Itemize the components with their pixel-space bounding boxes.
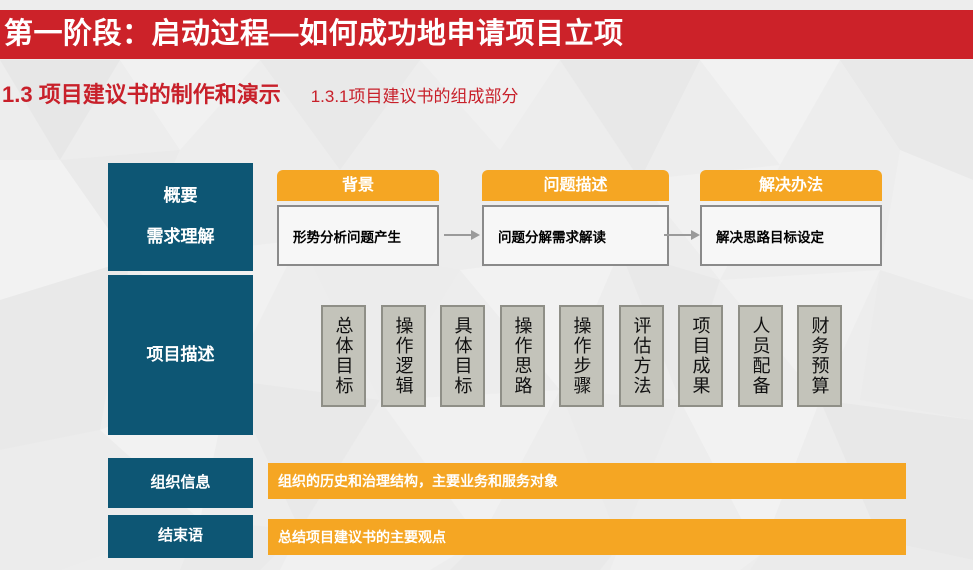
section-label-overview: 概要 需求理解 bbox=[108, 163, 253, 271]
section-label-overview-line-1: 概要 bbox=[164, 187, 198, 206]
section-label-project-description-text: 项目描述 bbox=[147, 346, 215, 365]
flow-card-background-body: 形势分析问题产生 bbox=[277, 205, 439, 266]
flow-card-problem-statement: 问题描述 问题分解需求解读 bbox=[482, 170, 669, 266]
section-label-closing-remarks-text: 结束语 bbox=[158, 528, 203, 545]
section-label-overview-line-2: 需求理解 bbox=[147, 228, 215, 247]
detail-chip-operation-idea: 操作思路 bbox=[500, 305, 545, 407]
detail-chip-project-results: 项目成果 bbox=[678, 305, 723, 407]
content-bar-organization-info: 组织的历史和治理结构，主要业务和服务对象 bbox=[268, 463, 906, 499]
slide-canvas: 第一阶段：启动过程—如何成功地申请项目立项 1.3 项目建议书的制作和演示 1.… bbox=[0, 0, 973, 570]
section-heading: 1.3 项目建议书的制作和演示 bbox=[2, 84, 281, 106]
section-label-organization-info-text: 组织信息 bbox=[150, 475, 210, 492]
arrow-right-icon bbox=[444, 226, 480, 244]
detail-chip-specific-goal: 具体目标 bbox=[440, 305, 485, 407]
detail-chip-operation-logic: 操作逻辑 bbox=[381, 305, 426, 407]
flow-card-solution: 解决办法 解决思路目标设定 bbox=[700, 170, 882, 266]
title-banner: 第一阶段：启动过程—如何成功地申请项目立项 bbox=[0, 10, 973, 59]
flow-card-problem-statement-body: 问题分解需求解读 bbox=[482, 205, 669, 266]
subheading-row: 1.3 项目建议书的制作和演示 1.3.1项目建议书的组成部分 bbox=[2, 84, 519, 106]
detail-chip-financial-budget: 财务预算 bbox=[797, 305, 842, 407]
flow-card-background-header: 背景 bbox=[277, 170, 439, 201]
detail-chip-evaluation-method: 评估方法 bbox=[619, 305, 664, 407]
flow-card-solution-body: 解决思路目标设定 bbox=[700, 205, 882, 266]
section-label-organization-info: 组织信息 bbox=[108, 458, 253, 508]
subsection-heading: 1.3.1项目建议书的组成部分 bbox=[311, 88, 519, 105]
detail-chip-operation-steps: 操作步骤 bbox=[559, 305, 604, 407]
detail-chip-staffing: 人员配备 bbox=[738, 305, 783, 407]
detail-chip-overall-goal: 总体目标 bbox=[321, 305, 366, 407]
section-label-closing-remarks: 结束语 bbox=[108, 515, 253, 558]
flow-card-problem-statement-header: 问题描述 bbox=[482, 170, 669, 201]
arrow-right-icon bbox=[664, 226, 700, 244]
flow-card-background: 背景 形势分析问题产生 bbox=[277, 170, 439, 266]
section-label-project-description: 项目描述 bbox=[108, 275, 253, 435]
content-bar-closing-remarks: 总结项目建议书的主要观点 bbox=[268, 519, 906, 555]
flow-card-solution-header: 解决办法 bbox=[700, 170, 882, 201]
page-title: 第一阶段：启动过程—如何成功地申请项目立项 bbox=[0, 20, 624, 49]
